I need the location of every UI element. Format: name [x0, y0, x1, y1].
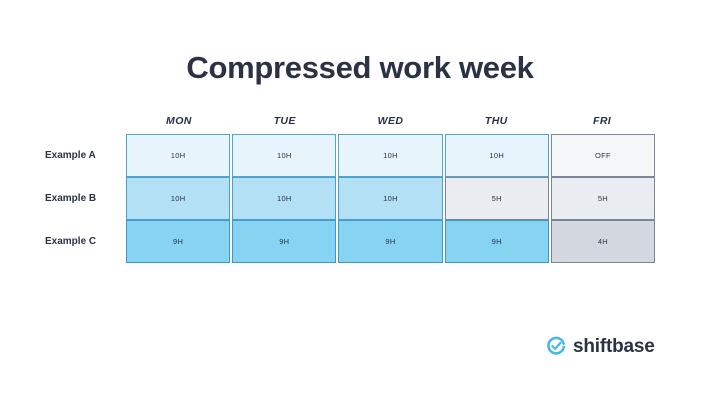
- cell-example-b-wed: 10H: [338, 177, 442, 220]
- row-cells-example-c: 9H 9H 9H 9H 4H: [126, 220, 655, 263]
- table-row: Example C 9H 9H 9H 9H 4H: [45, 220, 655, 263]
- table-row: Example B 10H 10H 10H 5H 5H: [45, 177, 655, 220]
- column-header-thu: THU: [443, 108, 549, 134]
- compressed-work-week-table: MON TUE WED THU FRI Example A 10H 10H 10…: [45, 108, 655, 263]
- table-header-row: MON TUE WED THU FRI: [45, 108, 655, 134]
- row-label-example-c: Example C: [45, 220, 126, 263]
- cell-example-a-tue: 10H: [232, 134, 336, 177]
- cell-example-a-thu: 10H: [445, 134, 549, 177]
- cell-example-c-fri: 4H: [551, 220, 655, 263]
- cell-example-a-fri: OFF: [551, 134, 655, 177]
- cell-example-b-thu: 5H: [445, 177, 549, 220]
- column-header-fri: FRI: [549, 108, 655, 134]
- cell-example-c-wed: 9H: [338, 220, 442, 263]
- table-row: Example A 10H 10H 10H 10H OFF: [45, 134, 655, 177]
- cell-example-b-mon: 10H: [126, 177, 230, 220]
- circle-check-icon: [546, 336, 566, 356]
- cell-example-a-mon: 10H: [126, 134, 230, 177]
- row-label-header: [45, 108, 126, 134]
- cell-example-b-tue: 10H: [232, 177, 336, 220]
- cell-example-a-wed: 10H: [338, 134, 442, 177]
- row-label-example-a: Example A: [45, 134, 126, 177]
- column-header-tue: TUE: [232, 108, 338, 134]
- cell-example-c-tue: 9H: [232, 220, 336, 263]
- cell-example-b-fri: 5H: [551, 177, 655, 220]
- column-header-mon: MON: [126, 108, 232, 134]
- row-label-example-b: Example B: [45, 177, 126, 220]
- cell-example-c-thu: 9H: [445, 220, 549, 263]
- shiftbase-logo: shiftbase: [546, 336, 655, 356]
- row-cells-example-b: 10H 10H 10H 5H 5H: [126, 177, 655, 220]
- row-cells-example-a: 10H 10H 10H 10H OFF: [126, 134, 655, 177]
- header-cells: MON TUE WED THU FRI: [126, 108, 655, 134]
- cell-example-c-mon: 9H: [126, 220, 230, 263]
- logo-wordmark: shiftbase: [573, 337, 655, 356]
- column-header-wed: WED: [338, 108, 444, 134]
- page-title: Compressed work week: [0, 50, 720, 86]
